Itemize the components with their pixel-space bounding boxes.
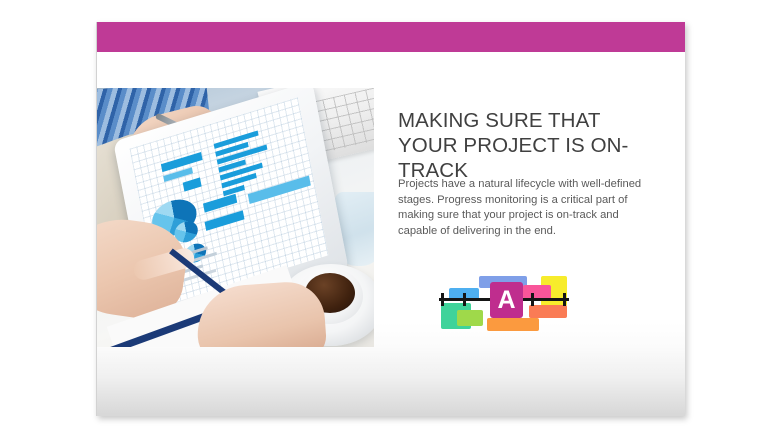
- bar-green-lime: [457, 310, 483, 326]
- project-timeline-icon: A: [437, 270, 573, 334]
- bar-pink: [523, 285, 551, 299]
- bar-orange-bottom: [487, 318, 539, 331]
- screenshot-canvas: MAKING SURE THAT YOUR PROJECT IS ON-TRAC…: [0, 0, 770, 440]
- business-tablet-photo: [97, 88, 374, 347]
- timeline-letter-badge: A: [490, 282, 523, 318]
- slide-body-text: Projects have a natural lifecycle with w…: [398, 177, 642, 239]
- bar-salmon-right: [529, 305, 567, 318]
- presentation-slide: MAKING SURE THAT YOUR PROJECT IS ON-TRAC…: [96, 22, 685, 416]
- slide-header-band: [97, 22, 685, 52]
- slide-title: MAKING SURE THAT YOUR PROJECT IS ON-TRAC…: [398, 108, 658, 183]
